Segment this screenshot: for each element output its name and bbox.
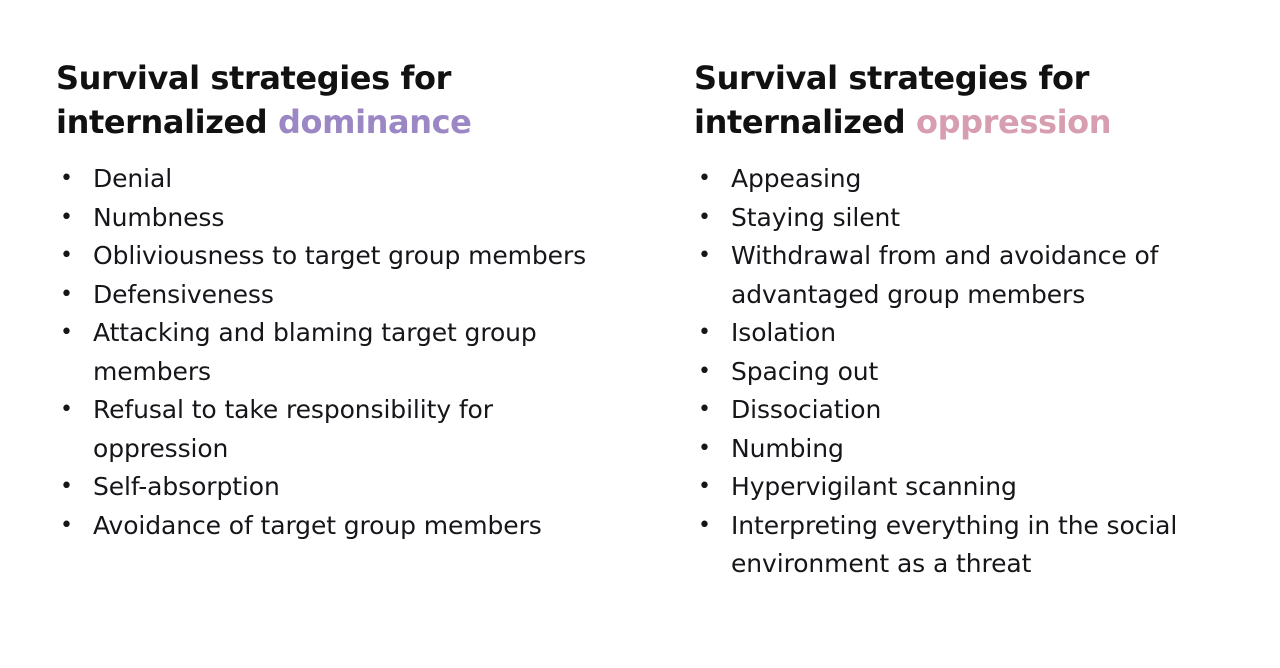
bullet-icon: • xyxy=(698,468,708,507)
bullet-icon: • xyxy=(698,237,708,276)
bullet-icon: • xyxy=(60,468,70,507)
list-item-label: Obliviousness to target group members xyxy=(93,241,586,270)
list-item-label: Spacing out xyxy=(731,357,878,386)
bullet-icon: • xyxy=(698,507,708,546)
list-item: •Withdrawal from and avoidance of advant… xyxy=(694,237,1216,314)
list-item: •Isolation xyxy=(694,314,1216,353)
list-item-label: Dissociation xyxy=(731,395,881,424)
list-item: •Staying silent xyxy=(694,199,1216,238)
list-item-label: Avoidance of target group members xyxy=(93,511,542,540)
slide-root: Survival strategies for internalized dom… xyxy=(0,0,1280,668)
bullet-icon: • xyxy=(698,199,708,238)
heading-accent-word-oppression: oppression xyxy=(916,103,1111,141)
list-item-label: Staying silent xyxy=(731,203,900,232)
list-item-label: Isolation xyxy=(731,318,836,347)
bullet-icon: • xyxy=(60,507,70,546)
bullet-icon: • xyxy=(698,430,708,469)
list-item: •Obliviousness to target group members xyxy=(56,237,593,276)
list-item: •Refusal to take responsibility for oppr… xyxy=(56,391,593,468)
list-item-label: Numbness xyxy=(93,203,224,232)
bullet-icon: • xyxy=(60,160,70,199)
list-item: •Defensiveness xyxy=(56,276,593,315)
list-item: •Avoidance of target group members xyxy=(56,507,593,546)
list-item-label: Denial xyxy=(93,164,172,193)
bullet-icon: • xyxy=(698,160,708,199)
column-internalized-oppression: Survival strategies for internalized opp… xyxy=(636,56,1216,584)
bullet-icon: • xyxy=(60,391,70,430)
bullet-icon: • xyxy=(698,353,708,392)
list-item: •Denial xyxy=(56,160,593,199)
list-item: •Spacing out xyxy=(694,353,1216,392)
list-item-label: Attacking and blaming target group membe… xyxy=(93,318,537,386)
bullet-icon: • xyxy=(698,391,708,430)
bullet-icon: • xyxy=(60,314,70,353)
list-item-label: Appeasing xyxy=(731,164,861,193)
list-item-label: Hypervigilant scanning xyxy=(731,472,1017,501)
bullet-icon: • xyxy=(698,314,708,353)
list-item: •Appeasing xyxy=(694,160,1216,199)
bullet-icon: • xyxy=(60,276,70,315)
list-item-label: Refusal to take responsibility for oppre… xyxy=(93,395,493,463)
list-item: •Hypervigilant scanning xyxy=(694,468,1216,507)
list-item-label: Defensiveness xyxy=(93,280,274,309)
bullet-icon: • xyxy=(60,237,70,276)
list-item-label: Numbing xyxy=(731,434,844,463)
column-internalized-dominance: Survival strategies for internalized dom… xyxy=(56,56,636,545)
list-item: •Numbness xyxy=(56,199,593,238)
list-item-label: Withdrawal from and avoidance of advanta… xyxy=(731,241,1158,309)
page-title-dominance: Survival strategies for internalized dom… xyxy=(56,56,486,144)
list-item-label: Interpreting everything in the social en… xyxy=(731,511,1177,579)
page-title-oppression: Survival strategies for internalized opp… xyxy=(694,56,1144,144)
heading-accent-word-dominance: dominance xyxy=(278,103,471,141)
strategy-list-oppression: •Appeasing •Staying silent •Withdrawal f… xyxy=(694,160,1216,584)
list-item-label: Self-absorption xyxy=(93,472,280,501)
strategy-list-dominance: •Denial •Numbness •Obliviousness to targ… xyxy=(56,160,610,545)
list-item: •Interpreting everything in the social e… xyxy=(694,507,1216,584)
list-item: •Dissociation xyxy=(694,391,1216,430)
list-item: •Attacking and blaming target group memb… xyxy=(56,314,593,391)
list-item: •Self-absorption xyxy=(56,468,593,507)
list-item: •Numbing xyxy=(694,430,1216,469)
bullet-icon: • xyxy=(60,199,70,238)
